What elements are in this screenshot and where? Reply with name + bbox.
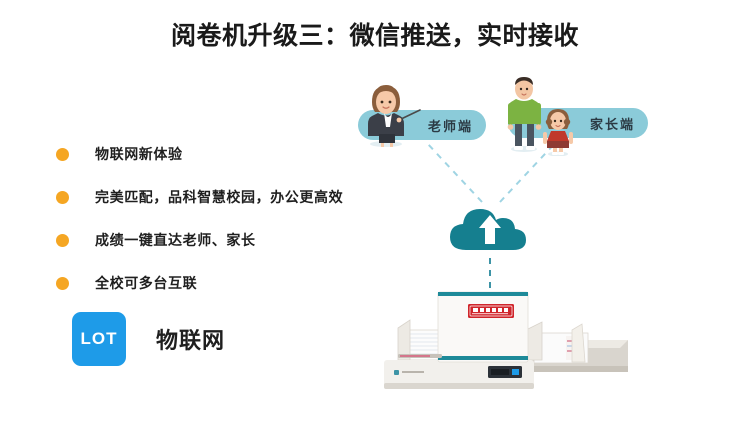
network-diagram: 老师端 家长端 bbox=[340, 70, 740, 410]
iot-badge-box: LOT bbox=[72, 312, 126, 366]
list-item: 完美匹配，品科智慧校园，办公更高效 bbox=[56, 181, 386, 213]
bullet-text: 完美匹配，品科智慧校园，办公更高效 bbox=[95, 187, 343, 207]
node-parent-label: 家长端 bbox=[590, 114, 635, 133]
scanner-device bbox=[376, 278, 638, 396]
child-figure-icon bbox=[540, 108, 576, 156]
bullet-text: 物联网新体验 bbox=[95, 144, 183, 164]
bullet-text: 全校可多台互联 bbox=[95, 273, 197, 293]
node-teacher-label: 老师端 bbox=[428, 116, 473, 135]
teacher-figure-icon bbox=[362, 82, 424, 148]
slide-canvas: 阅卷机升级三：微信推送，实时接收 物联网新体验 完美匹配，品科智慧校园，办公更高… bbox=[0, 0, 750, 433]
bullet-dot-icon bbox=[56, 277, 69, 290]
bullet-dot-icon bbox=[56, 148, 69, 161]
list-item: 成绩一键直达老师、家长 bbox=[56, 224, 386, 256]
page-title: 阅卷机升级三：微信推送，实时接收 bbox=[0, 16, 750, 52]
feature-bullet-list: 物联网新体验 完美匹配，品科智慧校园，办公更高效 成绩一键直达老师、家长 全校可… bbox=[56, 138, 386, 310]
bullet-text: 成绩一键直达老师、家长 bbox=[95, 230, 256, 250]
iot-badge-label: 物联网 bbox=[156, 323, 225, 355]
cloud-upload-icon bbox=[444, 198, 536, 256]
list-item: 全校可多台互联 bbox=[56, 267, 386, 299]
iot-badge-code: LOT bbox=[81, 329, 118, 349]
connector-cloud-to-teacher bbox=[426, 142, 482, 202]
bullet-dot-icon bbox=[56, 234, 69, 247]
list-item: 物联网新体验 bbox=[56, 138, 386, 170]
iot-badge: LOT 物联网 bbox=[72, 312, 225, 366]
bullet-dot-icon bbox=[56, 191, 69, 204]
